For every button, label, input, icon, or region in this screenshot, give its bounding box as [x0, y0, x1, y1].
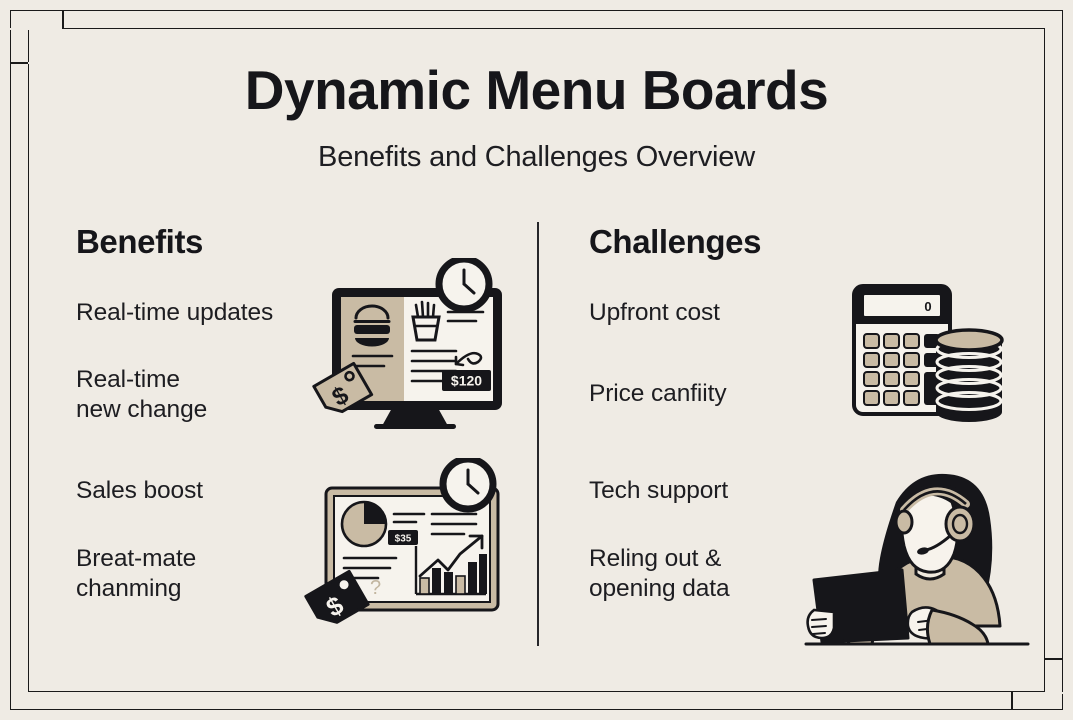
frame-corner-tl-h: [10, 28, 62, 30]
support-agent-illustration: [792, 462, 1036, 658]
frame-corner-tl-step-v: [62, 10, 64, 28]
page-subtitle: Benefits and Challenges Overview: [0, 141, 1073, 174]
benefits-item-1: Real-time updates: [76, 298, 273, 328]
challenges-item-2: Price canfiity: [589, 379, 726, 409]
benefits-item-3: Sales boost: [76, 476, 203, 506]
challenges-item-3: Tech support: [589, 476, 728, 506]
challenges-item-4: Reling out &opening data: [589, 544, 730, 604]
sales-dashboard-illustration: $35: [298, 458, 530, 640]
calculator-coins-illustration: 0: [836, 272, 1020, 424]
benefits-heading: Benefits: [76, 223, 203, 261]
frame-corner-br-step-h: [1045, 658, 1063, 660]
frame-corner-br-h: [1011, 692, 1063, 694]
benefits-item-2: Real-timenew change: [76, 365, 207, 425]
frame-corner-br-step-v: [1011, 692, 1013, 710]
coin-stack: [936, 330, 1002, 422]
challenges-item-1: Upfront cost: [589, 298, 720, 328]
dashboard-price-badge-text: $35: [395, 534, 412, 545]
calculator-display-value: 0: [924, 299, 931, 314]
monitor-price-badge-text: $120: [451, 373, 482, 389]
menu-board-monitor-illustration: $120 $: [296, 258, 534, 440]
page-title: Dynamic Menu Boards: [0, 62, 1073, 120]
benefits-item-4: Breat-matechanming: [76, 544, 196, 604]
column-divider: [537, 222, 539, 646]
dashboard-accent-mark: ?: [370, 577, 381, 599]
challenges-heading: Challenges: [589, 223, 761, 261]
infographic-canvas: Dynamic Menu Boards Benefits and Challen…: [0, 0, 1073, 720]
